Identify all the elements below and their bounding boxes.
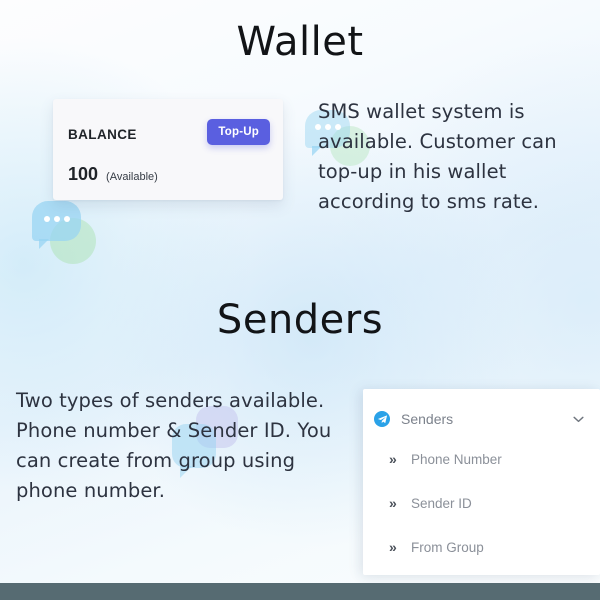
chevron-down-icon[interactable] [573, 416, 584, 423]
top-up-button[interactable]: Top-Up [207, 119, 270, 145]
double-chevron-right-icon: » [389, 452, 407, 466]
balance-amount: 100 [68, 164, 98, 185]
balance-amount-row: 100 (Available) [68, 164, 158, 185]
double-chevron-right-icon: » [389, 540, 407, 554]
menu-item-phone-number[interactable]: » Phone Number [363, 445, 600, 473]
chat-bubble-dots-icon [44, 216, 70, 222]
page-title-senders: Senders [0, 300, 600, 340]
menu-item-label: Sender ID [411, 496, 472, 511]
page-title-wallet: Wallet [0, 22, 600, 62]
senders-panel: Senders » Phone Number » Sender ID » Fro… [363, 389, 600, 575]
decorative-green-circle-wallet [50, 218, 96, 264]
balance-card: BALANCE 100 (Available) Top-Up [53, 99, 283, 200]
menu-item-sender-id[interactable]: » Sender ID [363, 489, 600, 517]
menu-item-label: From Group [411, 540, 484, 555]
slide-canvas: Wallet BALANCE 100 (Available) Top-Up SM… [0, 0, 600, 600]
balance-label: BALANCE [68, 127, 137, 142]
footer-bar [0, 583, 600, 600]
menu-item-from-group[interactable]: » From Group [363, 533, 600, 561]
telegram-plane-icon [374, 411, 390, 427]
decorative-chat-bubble-wallet [32, 201, 81, 241]
senders-panel-header[interactable]: Senders [363, 403, 600, 435]
senders-panel-title: Senders [401, 411, 573, 427]
wallet-description: SMS wallet system is available. Customer… [318, 97, 590, 217]
balance-availability-text: (Available) [106, 171, 158, 183]
double-chevron-right-icon: » [389, 496, 407, 510]
menu-item-label: Phone Number [411, 452, 502, 467]
senders-description: Two types of senders available. Phone nu… [16, 386, 356, 506]
